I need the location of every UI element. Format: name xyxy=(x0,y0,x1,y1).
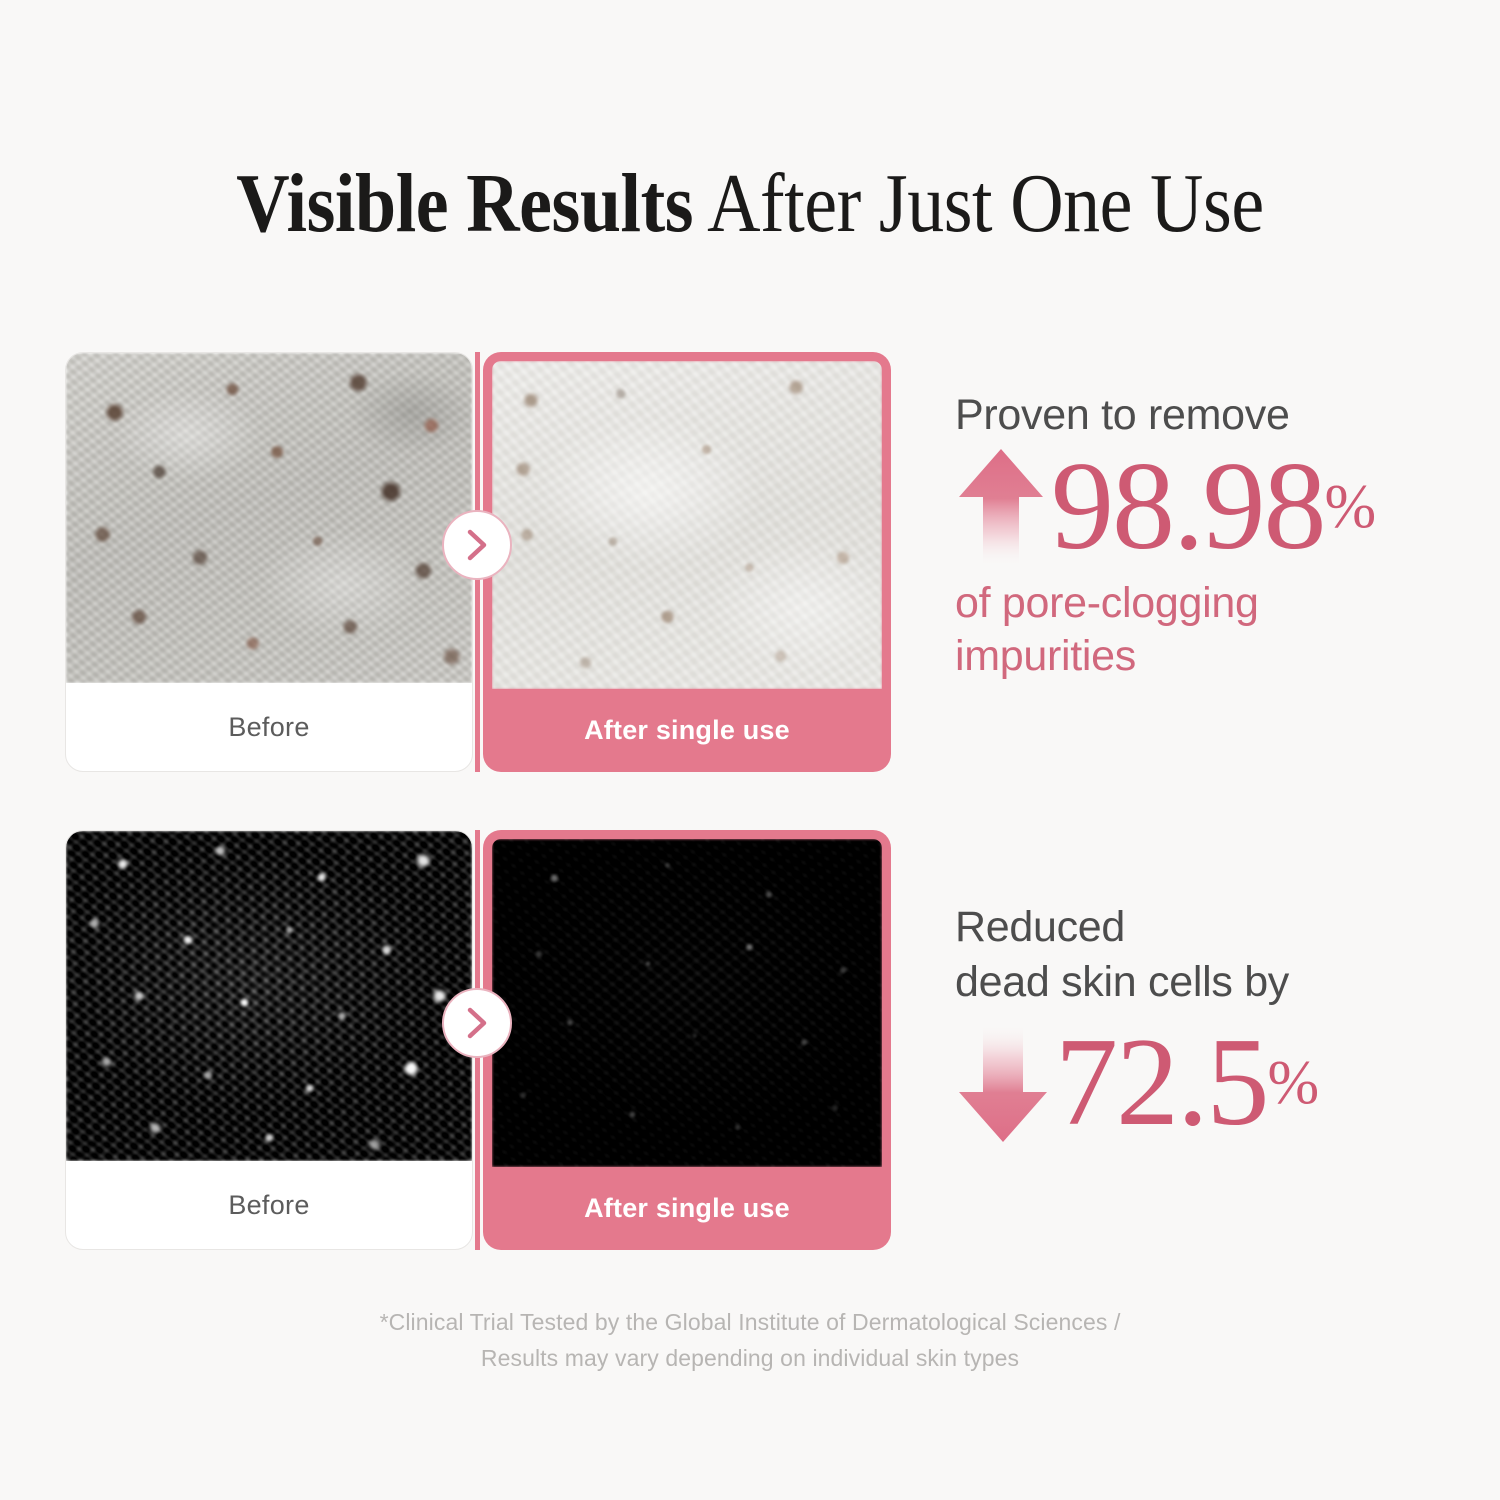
before-card-1: Before xyxy=(65,352,473,772)
after-card-2: After single use xyxy=(483,830,891,1250)
after-label-1: After single use xyxy=(492,689,882,772)
page-title-light: After Just One Use xyxy=(693,157,1264,250)
page-title-strong: Visible Results xyxy=(236,157,693,250)
after-image-1 xyxy=(492,361,882,689)
arrow-down-icon xyxy=(955,1020,1051,1146)
stat-percent-2: % xyxy=(1268,1048,1319,1119)
after-card-1: After single use xyxy=(483,352,891,772)
before-image-2 xyxy=(66,831,472,1161)
stat-number-1: 98.98 xyxy=(1051,449,1325,565)
dead-skin-cells-heavy-image xyxy=(66,831,472,1161)
before-card-2: Before xyxy=(65,830,473,1250)
comparison-row-2: Before After single use xyxy=(65,830,920,1250)
chevron-right-icon xyxy=(442,988,512,1058)
stat-percent-1: % xyxy=(1325,472,1376,543)
comparison-row-1: Before After single use xyxy=(65,352,920,772)
after-image-2 xyxy=(492,839,882,1167)
stat-number-2: 72.5 xyxy=(1055,1025,1268,1141)
stat-block-impurities: Proven to remove 98.98% of pore-clogging… xyxy=(955,388,1475,684)
stat-lead-1: Proven to remove xyxy=(955,388,1475,443)
stat-figure-1: 98.98% xyxy=(955,445,1475,569)
stat-block-dead-skin: Reduced dead skin cells by 72.5% xyxy=(955,900,1475,1154)
page-title: Visible Results After Just One Use xyxy=(90,160,1410,248)
skin-texture-clean-image xyxy=(492,361,882,689)
stat-figure-2: 72.5% xyxy=(955,1020,1475,1146)
dead-skin-cells-reduced-image xyxy=(492,839,882,1167)
skin-texture-clogged-pores-image xyxy=(66,353,472,683)
footnote-disclaimer: *Clinical Trial Tested by the Global Ins… xyxy=(0,1305,1500,1376)
before-label-2: Before xyxy=(66,1161,472,1249)
before-image-1 xyxy=(66,353,472,683)
after-label-2: After single use xyxy=(492,1167,882,1250)
arrow-up-icon xyxy=(955,445,1047,569)
stat-trail-1: of pore-clogging impurities xyxy=(955,577,1475,684)
chevron-right-icon xyxy=(442,510,512,580)
before-label-1: Before xyxy=(66,683,472,771)
stat-lead-2: Reduced dead skin cells by xyxy=(955,900,1475,1010)
